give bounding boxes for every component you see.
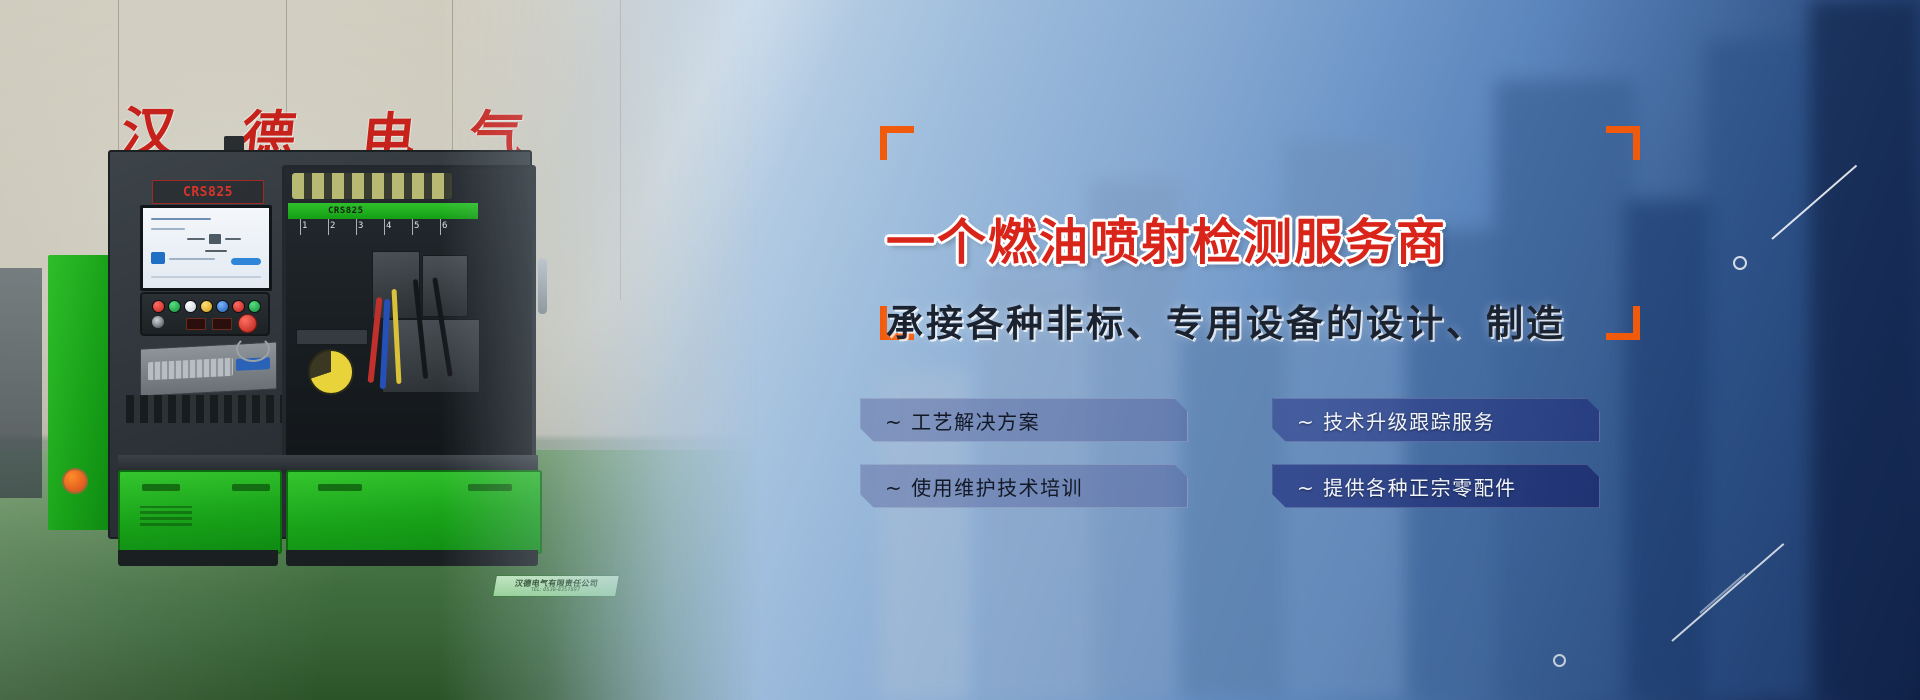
building-silhouette — [1810, 0, 1920, 700]
yellow-pump-wheel — [308, 349, 354, 395]
deco-circle-small — [1553, 654, 1566, 667]
cabinet-vent — [140, 506, 192, 526]
panel-button-white[interactable] — [184, 300, 197, 313]
workshop-photo: 汉 德 电 气 CRS825 — [0, 0, 760, 700]
bracket-top-right — [1606, 126, 1640, 160]
cabinet-foot — [286, 550, 538, 566]
machine-cable-loop — [236, 336, 270, 362]
port-tick — [356, 219, 357, 235]
screen-logo — [151, 252, 165, 264]
banner-headline: 一个燃油喷射检测服务商 — [886, 203, 1646, 274]
machine-cabinet-right[interactable] — [286, 470, 542, 554]
port-tick — [300, 219, 301, 235]
cabinet-handle[interactable] — [232, 484, 270, 491]
screen-badge — [231, 258, 261, 265]
bracket-top-left — [880, 126, 914, 160]
port-number: 3 — [358, 221, 363, 231]
banner-content: 一个燃油喷射检测服务商 承接各种非标、专用设备的设计、制造 ~ 工艺解决方案 ~… — [860, 0, 1660, 700]
cabinet-handle[interactable] — [142, 484, 180, 491]
panel-button-green[interactable] — [168, 300, 181, 313]
chamber-model-text: CRS825 — [328, 206, 364, 216]
chamber-model-banner: CRS825 — [288, 203, 478, 219]
port-tick — [328, 219, 329, 235]
panel-start-button[interactable] — [238, 314, 257, 333]
machine-test-chamber-window: CRS825 1 2 3 4 5 6 — [282, 165, 536, 473]
injector-row — [292, 173, 452, 199]
port-number: 2 — [330, 221, 335, 231]
panel-button-red[interactable] — [152, 300, 165, 313]
port-tick — [384, 219, 385, 235]
chamber-door-handle[interactable] — [538, 258, 547, 314]
panel-button-blue[interactable] — [216, 300, 229, 313]
screen-diagram-part — [187, 238, 205, 240]
port-number: 6 — [442, 221, 447, 231]
feature-tag-process-solution[interactable]: ~ 工艺解决方案 — [860, 398, 1188, 442]
screen-diagram-part — [209, 234, 221, 244]
feature-tag-genuine-parts[interactable]: ~ 提供各种正宗零配件 — [1272, 464, 1600, 508]
cabinet-handle[interactable] — [318, 484, 362, 491]
panel-button-red[interactable] — [232, 300, 245, 313]
screen-text-line — [151, 276, 261, 278]
machine-model-label: CRS825 — [152, 180, 264, 204]
screen-text-line — [151, 228, 185, 230]
screen-text-line — [169, 258, 215, 260]
cabinet-handle[interactable] — [468, 484, 512, 491]
banner-subheadline: 承接各种非标、专用设备的设计、制造 — [886, 293, 1646, 347]
port-tick — [412, 219, 413, 235]
port-tick — [440, 219, 441, 235]
building-silhouette — [1705, 40, 1825, 700]
screen-diagram-part — [205, 250, 227, 252]
panel-digital-readout — [212, 318, 232, 330]
machine-nameplate: 汉德电气有限责任公司 TEL: 0538-8357897 — [492, 575, 620, 597]
deco-circle-small — [1733, 256, 1747, 270]
panel-digital-readout — [186, 318, 206, 330]
test-rig-module — [422, 255, 468, 317]
hero-banner: 汉 德 电 气 CRS825 — [0, 0, 1920, 700]
panel-button-yellow[interactable] — [200, 300, 213, 313]
rail-mount — [296, 329, 368, 345]
machine-control-panel[interactable] — [140, 292, 270, 336]
feature-tag-training[interactable]: ~ 使用维护技术培训 — [860, 464, 1188, 508]
nameplate-tel: TEL: 0538-8357897 — [530, 588, 580, 593]
port-number: 4 — [386, 221, 391, 231]
cabinet-foot — [118, 550, 278, 566]
screen-diagram-part — [225, 238, 241, 240]
background-equipment — [0, 268, 42, 498]
feature-tag-upgrade-service[interactable]: ~ 技术升级跟踪服务 — [1272, 398, 1600, 442]
machine-display-screen[interactable] — [140, 205, 272, 291]
panel-button-green[interactable] — [248, 300, 261, 313]
emergency-stop-button[interactable] — [62, 468, 88, 494]
screen-text-line — [151, 218, 211, 220]
port-number: 5 — [414, 221, 419, 231]
port-number: 1 — [302, 221, 307, 231]
panel-selector-knob[interactable] — [152, 316, 164, 328]
machine-cabinet-left[interactable] — [118, 470, 282, 554]
